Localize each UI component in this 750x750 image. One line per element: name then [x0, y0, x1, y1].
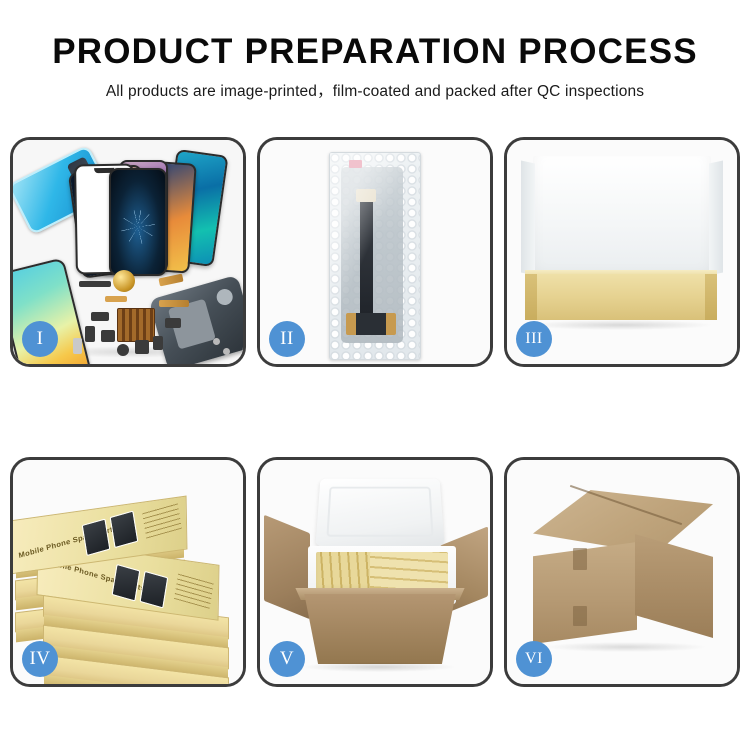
step-badge-6: VI — [516, 641, 552, 677]
process-step-2[interactable]: II — [257, 137, 493, 367]
product-thumbnail-icon — [140, 571, 169, 609]
step-badge-1: I — [22, 321, 58, 357]
ground-shadow — [304, 662, 454, 672]
part-strip-icon — [79, 281, 111, 287]
ground-shadow — [547, 642, 705, 652]
foam-lid-icon — [315, 479, 444, 546]
step-badge-2: II — [269, 321, 305, 357]
part-camera-icon — [135, 340, 149, 354]
kraft-tray-icon — [525, 274, 717, 320]
carton-flap-left-icon — [264, 515, 310, 620]
connector-icon — [356, 189, 376, 202]
ground-shadow — [531, 320, 711, 330]
part-bracket-icon — [101, 330, 115, 342]
process-step-6[interactable]: VI — [504, 457, 740, 687]
process-step-1[interactable]: I — [10, 137, 246, 367]
part-sim-tray-icon — [153, 336, 163, 350]
vibration-motor-icon — [113, 270, 135, 292]
part-button-icon — [85, 326, 95, 342]
part-shield-icon — [165, 318, 181, 328]
carton-tab-icon — [573, 548, 587, 570]
product-thumbnail-icon — [110, 511, 139, 549]
process-step-4[interactable]: Mobile Phone Spare Parts Mobile Phone Sp… — [10, 457, 246, 687]
step-badge-4: IV — [22, 641, 58, 677]
part-screw-icon — [213, 338, 220, 345]
spec-lines — [174, 572, 214, 609]
part-connector-icon — [91, 312, 109, 321]
product-thumbnail-icon — [112, 564, 141, 602]
tape-strip-icon — [346, 313, 396, 335]
flex-cable-icon — [159, 300, 189, 307]
box-lid-icon — [533, 156, 711, 280]
flex-cable-icon — [360, 197, 373, 317]
chip-grid-icon — [117, 308, 155, 342]
part-speaker-icon — [117, 344, 129, 356]
bubble-wrap-icon — [329, 152, 421, 360]
process-step-3[interactable]: III — [504, 137, 740, 367]
phone-glass-display-icon — [109, 168, 167, 276]
spec-lines — [142, 501, 182, 538]
page-title: PRODUCT PREPARATION PROCESS — [0, 34, 750, 71]
page-header: PRODUCT PREPARATION PROCESS All products… — [0, 0, 750, 101]
qc-label-icon — [349, 160, 362, 168]
page-subtitle: All products are image-printed，film-coat… — [0, 79, 750, 101]
outer-carton-icon — [294, 594, 466, 664]
process-step-grid: I II III — [10, 137, 740, 687]
carton-tab-icon — [573, 606, 587, 626]
carton-side-face — [635, 534, 713, 638]
step-badge-3: III — [516, 321, 552, 357]
product-thumbnail-icon — [82, 518, 111, 556]
part-ribbon-icon — [105, 296, 127, 302]
step-badge-5: V — [269, 641, 305, 677]
part-screw-icon — [223, 348, 230, 355]
process-step-5[interactable]: V — [257, 457, 493, 687]
part-metal-pin-icon — [73, 338, 82, 354]
